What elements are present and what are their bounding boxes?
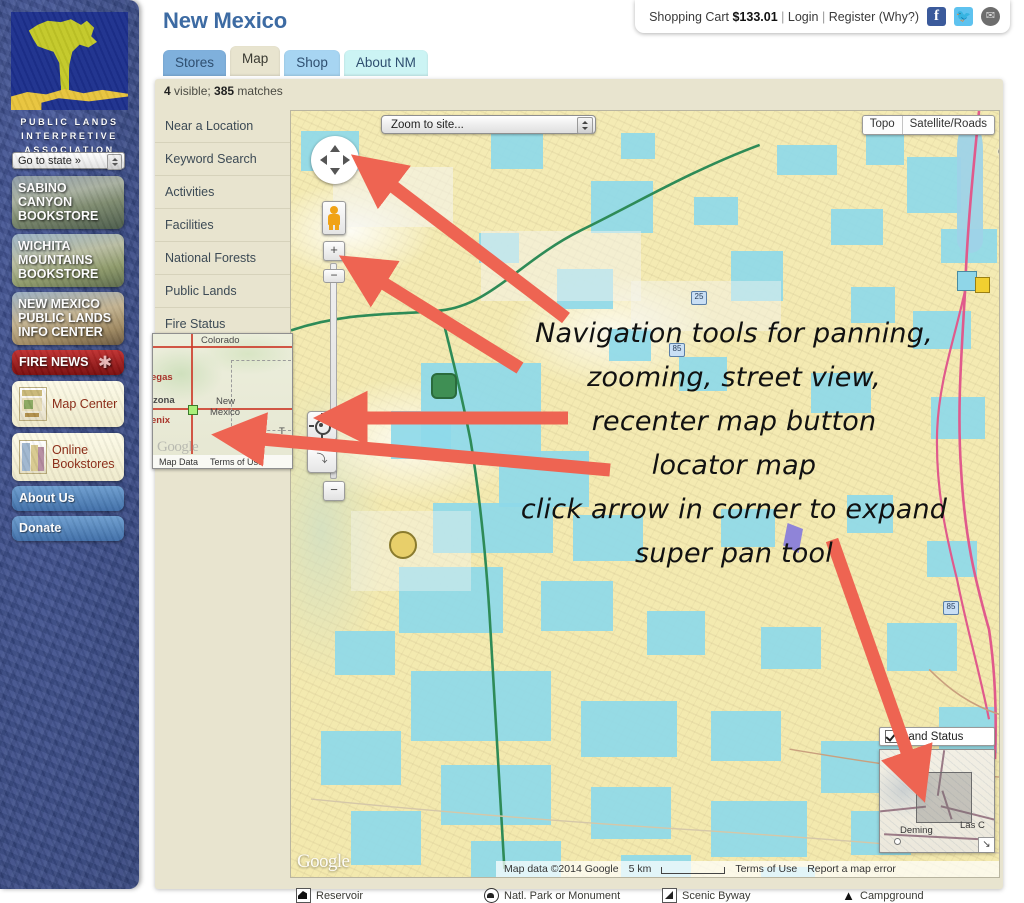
legend-item-reservoir: Reservoir: [296, 888, 484, 903]
google-watermark: Google: [297, 851, 349, 873]
crosshair-icon: [315, 419, 331, 435]
highway-shield: 25: [691, 291, 707, 305]
locator-map-inset[interactable]: Deming Las C ↘: [879, 749, 995, 853]
land-block: [694, 197, 738, 225]
match-prefix: visible;: [171, 84, 214, 98]
legend-item-campground: ▲ Campground: [842, 889, 924, 902]
land-block: [581, 701, 677, 757]
separator-2: |: [822, 10, 825, 24]
sidebar-item-map-center[interactable]: Map Center: [12, 381, 124, 427]
land-block: [647, 611, 705, 655]
go-to-state-label: Go to state »: [18, 155, 81, 167]
filter-activities-label: Activities: [165, 185, 214, 199]
land-block: [391, 411, 451, 459]
scale-label: 5 km: [629, 863, 652, 875]
filter-public-lands-label: Public Lands: [165, 284, 237, 298]
pan-right-icon[interactable]: [343, 155, 350, 165]
overview-locator-map[interactable]: Colorado New Mexico T egas zona enix Goo…: [152, 333, 293, 469]
overview-city-phoenix: enix: [152, 415, 170, 426]
recenter-map-button[interactable]: [307, 411, 337, 441]
pla-logo-text: PUBLIC LANDS INTERPRETIVE ASSOCIATION: [11, 115, 128, 157]
land-status-label: Land Status: [902, 731, 963, 743]
tab-about-nm[interactable]: About NM: [344, 50, 428, 76]
match-suffix: matches: [234, 84, 283, 98]
land-status-checkbox[interactable]: [885, 730, 898, 743]
pan-control[interactable]: [311, 136, 359, 184]
tab-shop-label: Shop: [296, 55, 328, 70]
nm-public-lands-info-center-label: NEW MEXICO PUBLIC LANDS INFO CENTER: [18, 297, 111, 339]
land-block: [351, 811, 421, 865]
land-block: [441, 765, 551, 825]
books-thumbnail-icon: [19, 440, 47, 474]
overview-map-data-link[interactable]: Map Data: [159, 457, 198, 467]
terrain-patch: [481, 231, 641, 301]
fire-news-label: FIRE NEWS: [19, 355, 88, 369]
land-block: [491, 129, 543, 169]
logo-line-2: INTERPRETIVE: [11, 129, 128, 143]
account-links: Shopping Cart $133.01 | Login | Register…: [649, 10, 919, 24]
overview-google-watermark: Google: [157, 439, 198, 456]
left-sidebar: PUBLIC LANDS INTERPRETIVE ASSOCIATION Go…: [0, 0, 139, 889]
land-block: [711, 801, 807, 857]
annotation-line-6: super pan tool: [474, 532, 994, 576]
annotation-line-2: zooming, street view,: [474, 356, 994, 400]
pla-logo[interactable]: PUBLIC LANDS INTERPRETIVE ASSOCIATION: [11, 12, 128, 164]
pla-logo-image: [11, 12, 128, 110]
report-map-error-link[interactable]: Report a map error: [807, 863, 896, 875]
campground-icon: ▲: [842, 889, 855, 902]
expand-arrow-icon[interactable]: ↘: [978, 837, 994, 852]
sidebar-item-fire-news[interactable]: FIRE NEWS ✱: [12, 350, 124, 375]
land-block: [621, 133, 655, 159]
map-thumbnail-icon: [19, 387, 47, 421]
sidebar-item-online-bookstores[interactable]: Online Bookstores: [12, 433, 124, 481]
pan-left-icon[interactable]: [320, 155, 327, 165]
donate-label: Donate: [19, 521, 61, 535]
filter-fire-status-label: Fire Status: [165, 317, 225, 331]
city-label-deming: Deming: [900, 825, 933, 836]
main-tabs: Stores Map Shop About NM: [163, 46, 432, 76]
online-bookstores-label: Online Bookstores: [52, 443, 124, 471]
poi-marker-park[interactable]: [431, 373, 457, 399]
legend-label-national-park: Natl. Park or Monument: [504, 890, 620, 902]
land-block: [321, 731, 401, 785]
twitter-icon[interactable]: 🐦: [954, 7, 973, 26]
filter-keyword-search[interactable]: Keyword Search: [155, 143, 290, 176]
sidebar-item-donate[interactable]: Donate: [12, 516, 124, 541]
filter-facilities-label: Facilities: [165, 218, 214, 232]
filter-facilities[interactable]: Facilities: [155, 209, 290, 242]
overview-city-las-vegas: egas: [152, 372, 173, 383]
map-data-credit: Map data ©2014 Google: [504, 863, 619, 875]
overview-terms-link[interactable]: Terms of Use: [210, 457, 263, 467]
legend-label-scenic-byway: Scenic Byway: [682, 890, 750, 902]
wichita-mountains-bookstore-label: WICHITA MOUNTAINS BOOKSTORE: [18, 239, 98, 281]
zoom-slider-thumb[interactable]: −: [323, 269, 345, 283]
land-block: [831, 209, 883, 245]
register-link[interactable]: Register (Why?): [829, 10, 919, 24]
legend-label-reservoir: Reservoir: [316, 890, 363, 902]
land-status-panel: Land Status Deming Las C ↘: [879, 727, 995, 853]
poi-marker-sun[interactable]: [389, 531, 417, 559]
basemap-satellite-roads-button[interactable]: Satellite/Roads: [902, 116, 994, 134]
filter-near-a-location[interactable]: Near a Location: [155, 110, 290, 143]
flame-icon: ✱: [94, 352, 116, 373]
zoom-out-button[interactable]: −: [323, 481, 345, 501]
land-block: [591, 181, 653, 233]
compass-button[interactable]: ⤵: [307, 447, 337, 473]
chevron-updown-icon: [107, 154, 122, 170]
basemap-topo-button[interactable]: Topo: [863, 116, 902, 134]
separator-1: |: [781, 10, 784, 24]
sidebar-item-sabino-canyon-bookstore[interactable]: SABINO CANYON BOOKSTORE: [12, 176, 124, 229]
legend-item-national-park: Natl. Park or Monument: [484, 888, 662, 903]
poi-marker-water[interactable]: [957, 271, 977, 291]
land-block: [777, 145, 837, 175]
filter-national-forests-label: National Forests: [165, 251, 256, 265]
scenic-byway-icon: [662, 888, 677, 903]
total-count: 385: [214, 84, 234, 98]
land-block: [907, 157, 961, 213]
locator-view-rectangle[interactable]: [916, 772, 972, 823]
city-dot-deming: [894, 838, 901, 845]
map-center-label: Map Center: [52, 397, 117, 411]
city-label-las-cruces: Las C: [960, 820, 985, 831]
overview-credits: Map Data Terms of Use: [153, 455, 292, 468]
logo-line-1: PUBLIC LANDS: [11, 115, 128, 129]
caballo-reservoir-water: [957, 123, 983, 253]
tab-about-nm-label: About NM: [356, 55, 416, 70]
match-count: 4 visible; 385 matches: [164, 84, 283, 98]
tab-stores[interactable]: Stores: [163, 50, 226, 76]
basemap-toggle: Topo Satellite/Roads: [862, 115, 995, 135]
filter-public-lands[interactable]: Public Lands: [155, 275, 290, 308]
map-attribution-bar: Map data ©2014 Google 5 km Terms of Use …: [496, 861, 999, 877]
overview-label-new: New: [216, 396, 235, 407]
scale-bar: [661, 867, 725, 874]
annotation-text: Navigation tools for panning, zooming, s…: [474, 312, 994, 576]
land-block: [866, 131, 904, 165]
reservoir-icon: [296, 888, 311, 903]
filter-national-forests[interactable]: National Forests: [155, 242, 290, 275]
shopping-cart-link[interactable]: Shopping Cart: [649, 10, 729, 24]
map-label-caballo-reservoir: Caballo Reservoir: [991, 185, 1000, 207]
account-bar: Shopping Cart $133.01 | Login | Register…: [635, 0, 1010, 33]
tab-map-label: Map: [242, 51, 268, 66]
shopping-cart-total: $133.01: [732, 10, 777, 24]
overview-label-arizona: zona: [153, 395, 175, 406]
land-block: [887, 623, 957, 671]
poi-marker-warning[interactable]: [975, 277, 990, 293]
pan-down-icon[interactable]: [330, 168, 340, 175]
chevron-updown-icon: [577, 117, 593, 134]
sidebar-item-about-us[interactable]: About Us: [12, 486, 124, 511]
zoom-to-site-placeholder: Zoom to site...: [391, 119, 464, 131]
tab-shop[interactable]: Shop: [284, 50, 340, 76]
street-view-pegman-icon[interactable]: [322, 201, 346, 235]
pan-up-icon[interactable]: [330, 145, 340, 152]
tab-stores-label: Stores: [175, 55, 214, 70]
about-us-label: About Us: [19, 491, 75, 505]
overview-extent-marker: [188, 405, 198, 415]
land-block: [761, 627, 821, 669]
email-icon[interactable]: ✉: [981, 7, 1000, 26]
legend-label-campground: Campground: [860, 890, 924, 902]
visible-count: 4: [164, 84, 171, 98]
land-block: [541, 581, 613, 631]
zoom-to-site-select[interactable]: Zoom to site...: [381, 115, 596, 134]
terms-of-use-link[interactable]: Terms of Use: [735, 863, 797, 875]
land-block: [591, 787, 671, 839]
annotation-line-1: Navigation tools for panning,: [474, 312, 994, 356]
sidebar-item-nm-public-lands-info-center[interactable]: NEW MEXICO PUBLIC LANDS INFO CENTER: [12, 292, 124, 345]
land-status-checkbox-row[interactable]: Land Status: [879, 727, 995, 746]
tab-map[interactable]: Map: [230, 46, 280, 76]
filter-near-a-location-label: Near a Location: [165, 119, 253, 133]
land-block: [711, 711, 781, 761]
annotation-line-3: recenter map button: [474, 400, 994, 444]
map-label-caballo-lake-state-park: Caballo Lake State Park: [985, 147, 1000, 169]
page-title: New Mexico: [163, 8, 287, 34]
go-to-state-select[interactable]: Go to state »: [12, 152, 125, 169]
annotation-line-4: locator map: [474, 444, 994, 488]
overview-label-colorado: Colorado: [201, 335, 240, 346]
login-link[interactable]: Login: [788, 10, 819, 24]
sabino-canyon-bookstore-label: SABINO CANYON BOOKSTORE: [18, 181, 98, 223]
overview-label-texas: T: [279, 426, 285, 437]
land-block: [411, 671, 551, 741]
overview-label-mexico: Mexico: [210, 407, 240, 418]
facebook-icon[interactable]: f: [927, 7, 946, 26]
filter-activities[interactable]: Activities: [155, 176, 290, 209]
legend-item-scenic-byway: Scenic Byway: [662, 888, 842, 903]
sidebar-item-wichita-mountains-bookstore[interactable]: WICHITA MOUNTAINS BOOKSTORE: [12, 234, 124, 287]
land-block: [335, 631, 395, 675]
filter-keyword-search-label: Keyword Search: [165, 152, 257, 166]
annotation-line-5: click arrow in corner to expand: [474, 488, 994, 532]
national-park-icon: [484, 888, 499, 903]
map-legend: Reservoir Natl. Park or Monument Scenic …: [296, 888, 1002, 903]
zoom-in-button[interactable]: +: [323, 241, 345, 261]
highway-shield: 85: [943, 601, 959, 615]
